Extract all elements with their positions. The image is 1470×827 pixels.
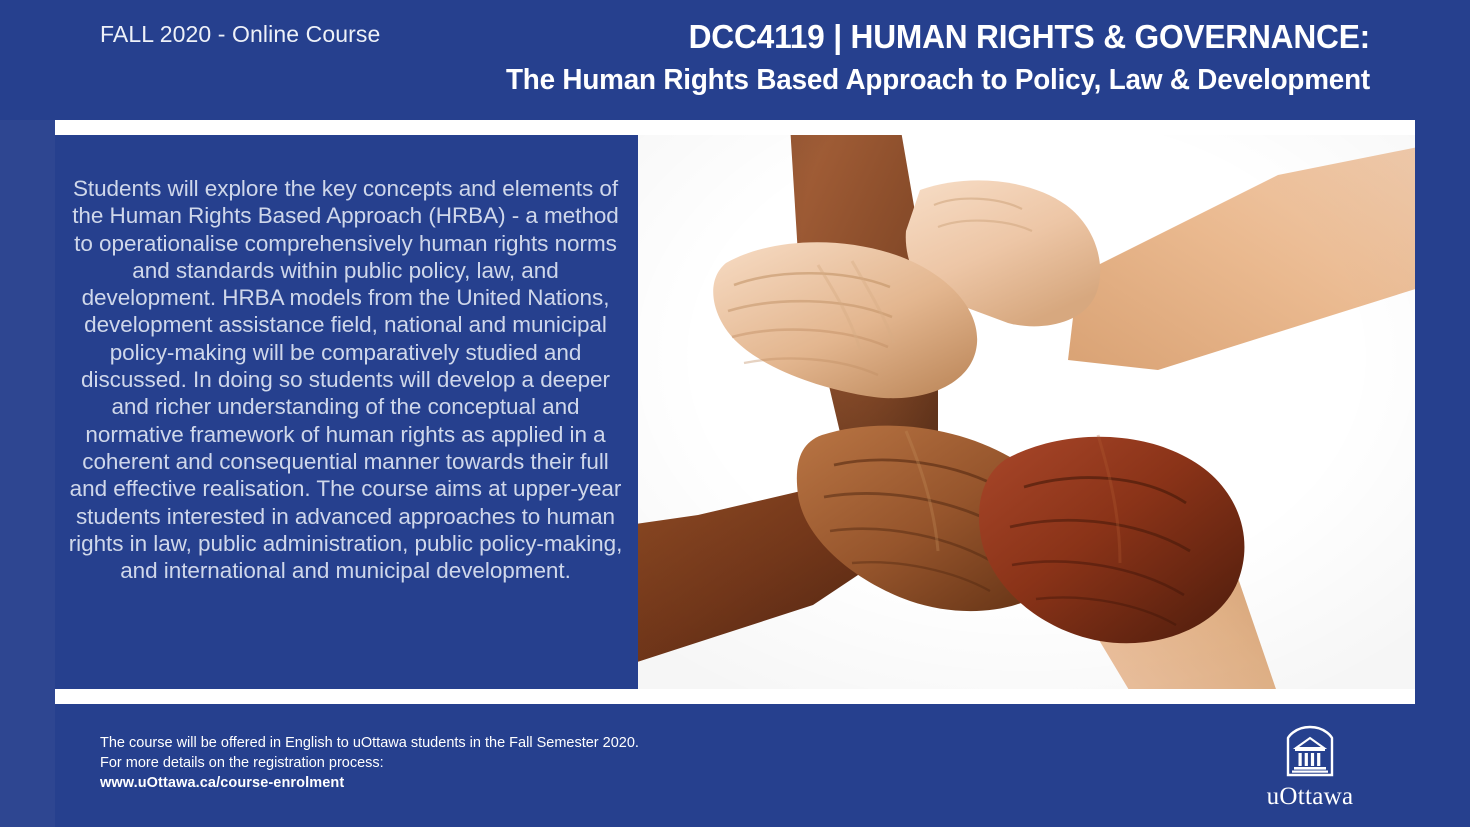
- uottawa-wordmark: uOttawa: [1250, 784, 1370, 809]
- footer-line-1: The course will be offered in English to…: [100, 735, 639, 751]
- poster-body: Students will explore the key concepts a…: [55, 135, 1470, 689]
- footer-line-2: For more details on the registration pro…: [100, 755, 384, 771]
- poster-header: FALL 2020 - Online Course DCC4119 | HUMA…: [0, 0, 1470, 120]
- divider-bar-top: [55, 120, 1415, 135]
- photo-panel: [638, 135, 1415, 689]
- interlocked-hands-photo: [638, 135, 1415, 689]
- footer-text-block: The course will be offered in English to…: [100, 734, 639, 794]
- enrolment-url[interactable]: www.uOttawa.ca/course-enrolment: [100, 774, 639, 794]
- course-title: DCC4119 | HUMAN RIGHTS & GOVERNANCE:: [410, 18, 1370, 57]
- divider-bar-bottom: [55, 689, 1415, 704]
- uottawa-shield-building-icon: [1280, 724, 1340, 779]
- course-poster: FALL 2020 - Online Course DCC4119 | HUMA…: [0, 0, 1470, 827]
- course-description: Students will explore the key concepts a…: [55, 135, 638, 689]
- uottawa-logo[interactable]: uOttawa: [1250, 724, 1370, 809]
- interlocked-hands-illustration: [638, 135, 1415, 689]
- poster-footer: The course will be offered in English to…: [0, 704, 1470, 827]
- term-label: FALL 2020 - Online Course: [100, 21, 380, 48]
- title-block: DCC4119 | HUMAN RIGHTS & GOVERNANCE: The…: [370, 18, 1370, 98]
- course-subtitle: The Human Rights Based Approach to Polic…: [410, 62, 1370, 98]
